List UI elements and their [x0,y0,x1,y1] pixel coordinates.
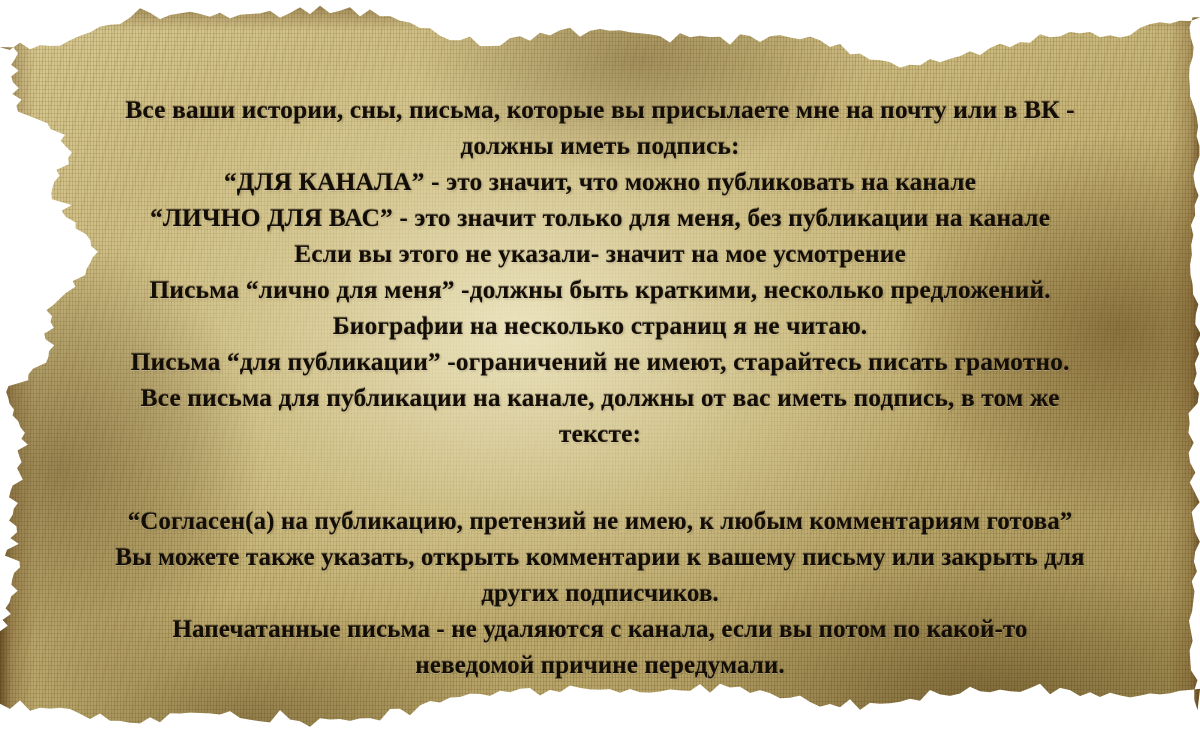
text-line: Напечатанные письма - не удаляются с кан… [26,612,1174,648]
paragraph-consent: “Согласен(а) на публикацию, претензий не… [26,504,1174,684]
text-line: тексте: [26,416,1174,452]
text-line: должны иметь подпись: [26,128,1174,164]
text-line: “ДЛЯ КАНАЛА” - это значит, что можно пуб… [26,164,1174,200]
notice-text-block: Все ваши истории, сны, письма, которые в… [26,92,1174,684]
text-line: неведомой причине передумали. [26,648,1174,684]
text-line: “Согласен(а) на публикацию, претензий не… [26,504,1174,540]
text-line: Письма “для публикации” -ограничений не … [26,344,1174,380]
text-line: других подписчиков. [26,576,1174,612]
paragraph-spacer [26,452,1174,504]
text-line: Все ваши истории, сны, письма, которые в… [26,92,1174,128]
text-line: Письма “лично для меня” -должны быть кра… [26,272,1174,308]
text-line: Вы можете также указать, открыть коммент… [26,540,1174,576]
text-line: Если вы этого не указали- значит на мое … [26,236,1174,272]
paragraph-rules: Все ваши истории, сны, письма, которые в… [26,92,1174,452]
text-line: “ЛИЧНО ДЛЯ ВАС” - это значит только для … [26,200,1174,236]
text-line: Биографии на несколько страниц я не чита… [26,308,1174,344]
screenshot-root: Все ваши истории, сны, письма, которые в… [0,0,1200,750]
text-line: Все письма для публикации на канале, дол… [26,380,1174,416]
